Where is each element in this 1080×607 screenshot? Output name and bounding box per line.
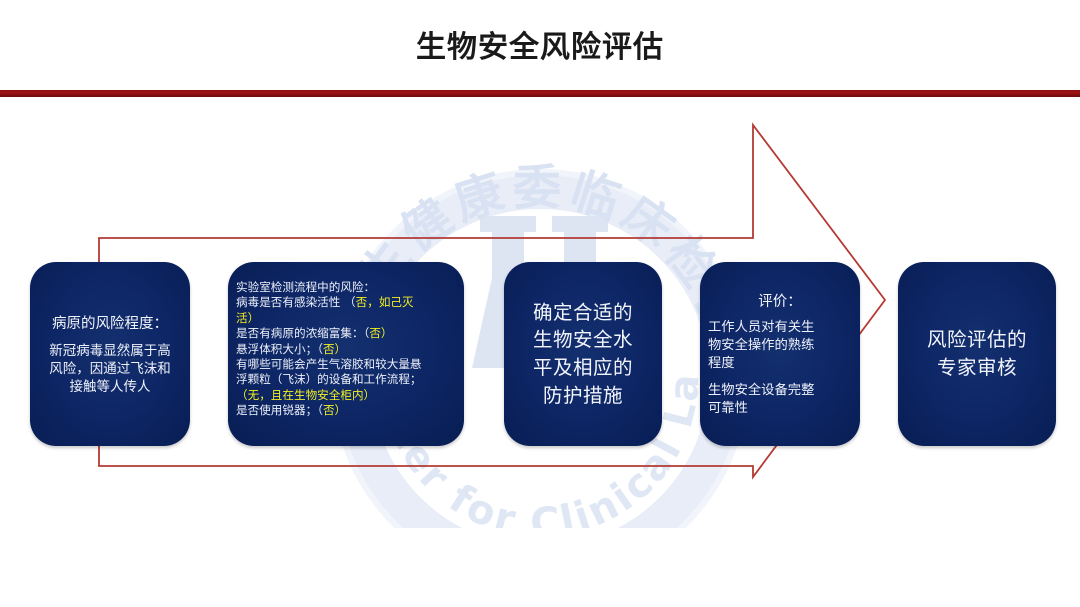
page-title: 生物安全风险评估 (0, 22, 1080, 66)
node-4-heading: 评价： (708, 290, 852, 311)
node-5-line: 专家审核 (898, 354, 1056, 382)
title-underline-rule (0, 90, 1080, 97)
flow-node-lab-process-risks[interactable]: 实验室检测流程中的风险：病毒是否有感染活性 （否，如己灭活）是否有病原的浓缩富集… (228, 262, 464, 446)
node-3-line: 平及相应的 (504, 354, 662, 382)
node-1-heading: 病原的风险程度： (37, 312, 183, 333)
node-4-line: 可靠性 (708, 400, 852, 418)
flow-node-evaluation[interactable]: 评价： 工作人员对有关生 物安全操作的熟练 程度 生物安全设备完整 可靠性 (700, 262, 860, 446)
node-2-text-run: 有哪些可能会产生气溶胶和较大量悬 (236, 357, 422, 371)
node-4-line: 程度 (708, 355, 852, 373)
node-2-text-run: 病毒是否有感染活性 （ (236, 295, 356, 309)
node-3-line: 防护措施 (504, 382, 662, 410)
node-4-paragraph-1: 工作人员对有关生 物安全操作的熟练 程度 (708, 319, 852, 372)
slide-header: 生物安全风险评估 (0, 0, 1080, 90)
node-1-line: 风险，因通过飞沫和 (41, 360, 179, 378)
node-4-paragraph-2: 生物安全设备完整 可靠性 (708, 382, 852, 418)
node-3-body: 确定合适的 生物安全水 平及相应的 防护措施 (504, 299, 662, 410)
node-2-body: 实验室检测流程中的风险：病毒是否有感染活性 （否，如己灭活）是否有病原的浓缩富集… (236, 280, 456, 419)
node-4-body: 工作人员对有关生 物安全操作的熟练 程度 生物安全设备完整 可靠性 (708, 319, 852, 417)
node-5-body: 风险评估的 专家审核 (898, 326, 1056, 383)
node-2-line: 是否使用锐器；（否） (236, 403, 456, 418)
node-2-text-run: 否） (323, 403, 346, 417)
node-2-line: 悬浮体积大小；（否） (236, 342, 456, 357)
node-2-text-run: 否） (369, 326, 392, 340)
node-2-line: 活） (236, 311, 456, 326)
flow-node-pathogen-risk-level[interactable]: 病原的风险程度： 新冠病毒显然属于高 风险，因通过飞沫和 接触等人传人 (30, 262, 190, 446)
node-1-line: 新冠病毒显然属于高 (41, 342, 179, 360)
node-5-line: 风险评估的 (898, 326, 1056, 354)
node-2-text-run: 是否使用锐器；（ (236, 403, 323, 417)
node-2-text-run: 浮颗粒（飞沫）的设备和工作流程； (236, 372, 422, 386)
node-3-line: 确定合适的 (504, 299, 662, 327)
node-4-line: 生物安全设备完整 (708, 382, 852, 400)
node-1-body: 新冠病毒显然属于高 风险，因通过飞沫和 接触等人传人 (37, 342, 183, 397)
flow-node-expert-review[interactable]: 风险评估的 专家审核 (898, 262, 1056, 446)
slide-canvas: 生物安全风险评估 国家卫生健康委临床检验中心 Center for Cli (0, 0, 1080, 607)
node-2-text-run: 是否有病原的浓缩富集：（ (236, 326, 369, 340)
node-2-text-run: 悬浮体积大小；（ (236, 342, 323, 356)
node-2-text-run: 活） (236, 311, 259, 325)
node-2-line: 病毒是否有感染活性 （否，如己灭 (236, 295, 456, 310)
node-2-text-run: 否，如己灭 (356, 295, 414, 309)
node-1-line: 接触等人传人 (41, 378, 179, 396)
node-2-line: （无，且在生物安全柜内） (236, 388, 456, 403)
node-4-line: 物安全操作的熟练 (708, 337, 852, 355)
node-2-line: 浮颗粒（飞沫）的设备和工作流程； (236, 372, 456, 387)
node-4-line: 工作人员对有关生 (708, 319, 852, 337)
node-2-text-run: 否） (323, 342, 346, 356)
node-2-line: 有哪些可能会产生气溶胶和较大量悬 (236, 357, 456, 372)
flow-node-determine-biosafety-level[interactable]: 确定合适的 生物安全水 平及相应的 防护措施 (504, 262, 662, 446)
node-2-line: 是否有病原的浓缩富集：（否） (236, 326, 456, 341)
node-3-line: 生物安全水 (504, 326, 662, 354)
node-2-text-run: 实验室检测流程中的风险： (236, 280, 375, 294)
node-2-line: 实验室检测流程中的风险： (236, 280, 456, 295)
node-2-text-run: （无，且在生物安全柜内） (236, 388, 375, 402)
